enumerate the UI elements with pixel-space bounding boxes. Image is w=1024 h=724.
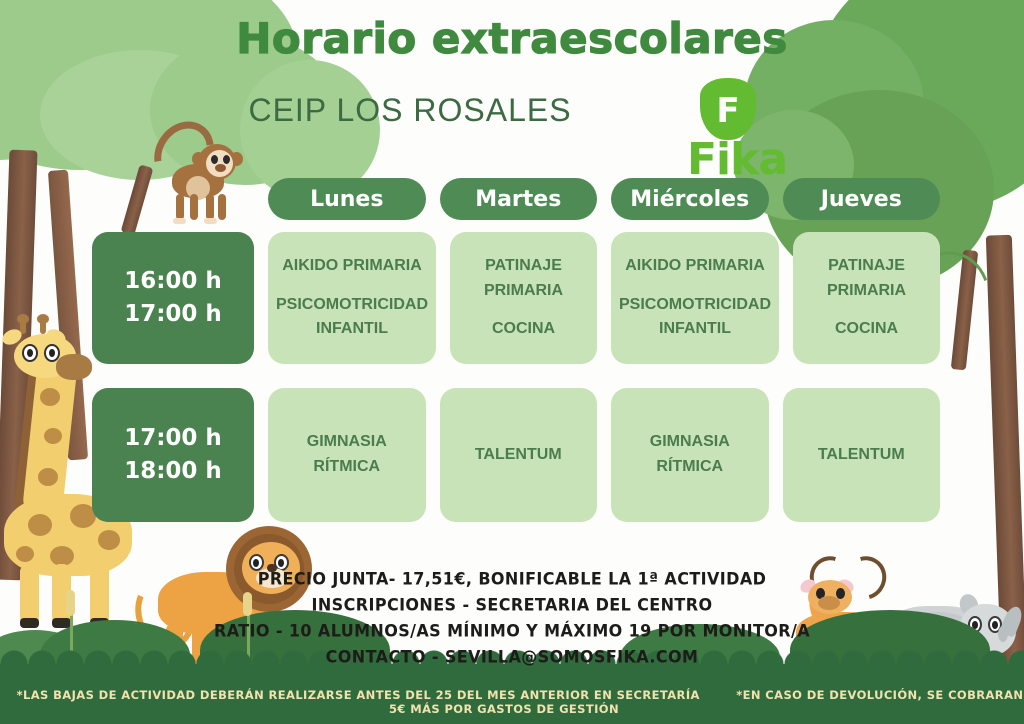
activity-line: RÍTMICA <box>313 455 380 480</box>
activity-cell-lunes-2[interactable]: GIMNASIA RÍTMICA <box>268 388 426 522</box>
corner-spacer <box>92 178 254 220</box>
activity-line: INFANTIL <box>659 317 731 342</box>
activity-cell-jueves-2[interactable]: TALENTUM <box>783 388 941 522</box>
activity-line: COCINA <box>835 317 898 342</box>
activity-cell-lunes-1[interactable]: AIKIDO PRIMARIA PSICOMOTRICIDAD INFANTIL <box>268 232 436 364</box>
info-notes: PRECIO JUNTA- 17,51€, BONIFICABLE LA 1ª … <box>0 566 1024 670</box>
activity-line: COCINA <box>492 317 555 342</box>
activity-line: TALENTUM <box>475 443 562 468</box>
activity-line: PRIMARIA <box>827 279 906 304</box>
day-header-martes[interactable]: Martes <box>440 178 598 220</box>
footer-note-cancellation: *LAS BAJAS DE ACTIVIDAD DEBERÁN REALIZAR… <box>17 688 700 702</box>
time-line: 17:00 h <box>124 298 222 331</box>
fika-logo: F Fika <box>672 78 802 170</box>
activity-cell-martes-2[interactable]: TALENTUM <box>440 388 598 522</box>
activity-line: AIKIDO PRIMARIA <box>282 254 422 279</box>
activity-line: PATINAJE <box>828 254 905 279</box>
activity-line: GIMNASIA <box>307 430 387 455</box>
schedule-row: 16:00 h 17:00 h AIKIDO PRIMARIA PSICOMOT… <box>92 232 940 364</box>
page-title: Horario extraescolares <box>0 14 1024 63</box>
schedule-table: Lunes Martes Miércoles Jueves 16:00 h 17… <box>92 178 940 522</box>
activity-line: PRIMARIA <box>484 279 563 304</box>
poster-canvas: Horario extraescolares CEIP LOS ROSALES … <box>0 0 1024 724</box>
activity-cell-miercoles-1[interactable]: AIKIDO PRIMARIA PSICOMOTRICIDAD INFANTIL <box>611 232 779 364</box>
day-header-row: Lunes Martes Miércoles Jueves <box>92 178 940 220</box>
activity-line: AIKIDO PRIMARIA <box>625 254 765 279</box>
note-price: PRECIO JUNTA- 17,51€, BONIFICABLE LA 1ª … <box>0 565 1024 592</box>
logo-letter: F <box>700 82 756 140</box>
activity-cell-jueves-1[interactable]: PATINAJE PRIMARIA COCINA <box>793 232 940 364</box>
day-header-jueves[interactable]: Jueves <box>783 178 941 220</box>
note-inscriptions: INSCRIPCIONES - SECRETARIA DEL CENTRO <box>0 591 1024 618</box>
activity-line: TALENTUM <box>818 443 905 468</box>
note-ratio: RATIO - 10 ALUMNOS/AS MÍNIMO Y MÁXIMO 19… <box>0 617 1024 644</box>
schedule-row: 17:00 h 18:00 h GIMNASIA RÍTMICA TALENTU… <box>92 388 940 522</box>
activity-cell-miercoles-2[interactable]: GIMNASIA RÍTMICA <box>611 388 769 522</box>
time-slot-2: 17:00 h 18:00 h <box>92 388 254 522</box>
day-header-lunes[interactable]: Lunes <box>268 178 426 220</box>
activity-line: PSICOMOTRICIDAD <box>276 293 428 318</box>
day-header-miercoles[interactable]: Miércoles <box>611 178 769 220</box>
activity-line: GIMNASIA <box>650 430 730 455</box>
time-line: 18:00 h <box>124 455 222 488</box>
time-line: 17:00 h <box>124 422 222 455</box>
activity-line: INFANTIL <box>316 317 388 342</box>
activity-cell-martes-1[interactable]: PATINAJE PRIMARIA COCINA <box>450 232 597 364</box>
note-contact: CONTACTO - SEVILLA@SOMOSFIKA.COM <box>0 643 1024 670</box>
activity-line: PSICOMOTRICIDAD <box>619 293 771 318</box>
time-line: 16:00 h <box>124 265 222 298</box>
footer-notes: *LAS BAJAS DE ACTIVIDAD DEBERÁN REALIZAR… <box>0 688 1024 716</box>
activity-line: RÍTMICA <box>656 455 723 480</box>
school-name: CEIP LOS ROSALES <box>150 92 670 129</box>
time-slot-1: 16:00 h 17:00 h <box>92 232 254 364</box>
activity-line: PATINAJE <box>485 254 562 279</box>
